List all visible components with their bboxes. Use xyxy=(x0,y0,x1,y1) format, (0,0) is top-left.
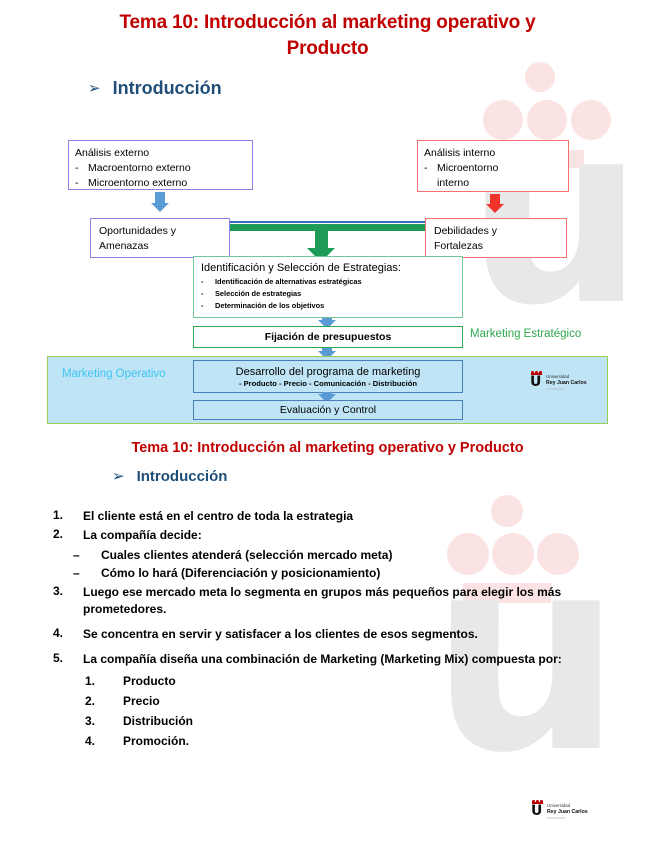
list-item-text: Luego ese mercado meta lo segmenta en gr… xyxy=(83,584,590,618)
box-analisis-interno-item-1: interno xyxy=(437,176,469,191)
arrow-bullet-icon: ➢ xyxy=(112,469,125,484)
list-subitem-level2-number: 1. xyxy=(45,674,123,688)
urjc-logo-diagram: U Universidad Rey Juan Carlos universita… xyxy=(530,371,587,392)
dash-marker: - xyxy=(201,288,205,300)
dash-marker: - xyxy=(201,300,205,312)
list-item-number: 5. xyxy=(45,651,83,668)
urjc-logo-mark: U xyxy=(530,371,543,388)
box-analisis-externo: Análisis externo -Macroentorno externo -… xyxy=(68,140,253,190)
list-item-number: 2. xyxy=(45,527,83,544)
list-subitem-level2-number: 4. xyxy=(45,734,123,748)
box-analisis-externo-item-0: Macroentorno externo xyxy=(88,161,191,176)
box-analisis-interno-title: Análisis interno xyxy=(424,146,562,161)
list-subitem-level2-text: Precio xyxy=(123,694,160,708)
box-identificacion-estrategias: Identificación y Selección de Estrategia… xyxy=(193,256,463,318)
page-title-line2: Producto xyxy=(70,36,585,62)
box-evaluacion-control: Evaluación y Control xyxy=(193,400,463,420)
list-item-text: Se concentra en servir y satisfacer a lo… xyxy=(83,626,478,643)
list-subitem-level2: 4. Promoción. xyxy=(45,734,615,748)
urjc-logo-u-glyph: U xyxy=(530,376,543,388)
box-fijacion-presupuestos: Fijación de presupuestos xyxy=(193,326,463,348)
urjc-logo-line2: Rey Juan Carlos xyxy=(547,809,588,816)
box-analisis-interno: Análisis interno -Microentorno -interno xyxy=(417,140,569,192)
urjc-logo-line2: Rey Juan Carlos xyxy=(546,380,587,387)
list-subitem-level2: 3. Distribución xyxy=(45,714,615,728)
dash-marker: - xyxy=(424,161,430,176)
list-subitem: – Cómo lo hará (Diferenciación y posicio… xyxy=(45,566,615,580)
box-evaluacion-label: Evaluación y Control xyxy=(280,404,376,416)
urjc-logo-line3: universitas xyxy=(546,387,587,392)
urjc-logo-line3: universitas xyxy=(547,816,588,821)
list-subitem-level2-number: 2. xyxy=(45,694,123,708)
connector-arrow-stem xyxy=(315,228,328,250)
list-subitem-text: Cómo lo hará (Diferenciación y posiciona… xyxy=(101,566,380,580)
slide-page: u u Tema 10: Introducción al marketing o… xyxy=(0,0,655,848)
box-oportunidades-line1: Oportunidades y xyxy=(99,224,221,239)
list-item: 2. La compañía decide: xyxy=(45,527,615,544)
page-title-line1: Tema 10: Introducción al marketing opera… xyxy=(70,10,585,36)
label-marketing-operativo: Marketing Operativo xyxy=(62,368,166,380)
list-subitem-level2: 1. Producto xyxy=(45,674,615,688)
page-title-second: Tema 10: Introducción al marketing opera… xyxy=(70,440,585,456)
box-identificacion-item-0: Identificación de alternativas estratégi… xyxy=(215,276,362,288)
list-subitem-level2-text: Producto xyxy=(123,674,176,688)
connector-bar xyxy=(228,224,428,231)
box-debilidades-line1: Debilidades y xyxy=(434,224,558,239)
page-title: Tema 10: Introducción al marketing opera… xyxy=(70,10,585,61)
box-oportunidades-line2: Amenazas xyxy=(99,239,221,254)
box-debilidades-fortalezas: Debilidades y Fortalezas xyxy=(425,218,567,258)
connector-bar-accent xyxy=(228,221,428,223)
strategy-diagram: Análisis externo -Macroentorno externo -… xyxy=(0,128,655,433)
list-item-text: El cliente está en el centro de toda la … xyxy=(83,508,353,525)
urjc-logo-text: Universidad Rey Juan Carlos universitas xyxy=(547,800,588,821)
list-subitem-text: Cuales clientes atenderá (selección merc… xyxy=(101,548,392,562)
urjc-logo-footer: U Universidad Rey Juan Carlos universita… xyxy=(531,800,588,821)
list-subitem-level2-number: 3. xyxy=(45,714,123,728)
section-heading-intro: ➢ Introducción xyxy=(88,78,222,99)
arrow-bullet-icon: ➢ xyxy=(88,81,101,96)
box-desarrollo-programa: Desarrollo del programa de marketing - P… xyxy=(193,360,463,393)
urjc-logo-text: Universidad Rey Juan Carlos universitas xyxy=(546,371,587,392)
content-list: 1. El cliente está en el centro de toda … xyxy=(45,508,615,750)
section-heading-2-label: Introducción xyxy=(137,468,228,485)
dash-marker: - xyxy=(75,176,81,191)
urjc-logo-u-glyph: U xyxy=(531,805,544,817)
list-item: 1. El cliente está en el centro de toda … xyxy=(45,508,615,525)
box-desarrollo-title: Desarrollo del programa de marketing xyxy=(236,366,421,378)
list-subitem: – Cuales clientes atenderá (selección me… xyxy=(45,548,615,562)
list-item: 5. La compañía diseña una combinación de… xyxy=(45,651,590,668)
box-analisis-externo-item-1: Microentorno externo xyxy=(88,176,187,191)
box-analisis-interno-item-0: Microentorno xyxy=(437,161,498,176)
list-item: 4. Se concentra en servir y satisfacer a… xyxy=(45,626,615,643)
box-identificacion-title: Identificación y Selección de Estrategia… xyxy=(201,262,455,274)
box-analisis-externo-title: Análisis externo xyxy=(75,146,246,161)
dash-marker: - xyxy=(201,276,205,288)
box-identificacion-item-1: Selección de estrategias xyxy=(215,288,301,300)
section-heading-label: Introducción xyxy=(113,78,222,99)
crown-icon xyxy=(531,371,542,375)
box-identificacion-item-2: Determinación de los objetivos xyxy=(215,300,324,312)
list-subitem-marker: – xyxy=(45,566,101,580)
box-fijacion-label: Fijación de presupuestos xyxy=(265,331,392,343)
list-item-number: 1. xyxy=(45,508,83,525)
list-item: 3. Luego ese mercado meta lo segmenta en… xyxy=(45,584,590,618)
list-subitem-level2: 2. Precio xyxy=(45,694,615,708)
box-oportunidades-amenazas: Oportunidades y Amenazas xyxy=(90,218,230,258)
list-subitem-marker: – xyxy=(45,548,101,562)
list-subitem-level2-text: Promoción. xyxy=(123,734,189,748)
crown-icon xyxy=(532,800,543,804)
label-marketing-estrategico: Marketing Estratégico xyxy=(470,328,581,340)
list-item-number: 4. xyxy=(45,626,83,643)
dash-marker: - xyxy=(75,161,81,176)
list-item-text: La compañía decide: xyxy=(83,527,202,544)
urjc-logo-mark: U xyxy=(531,800,544,817)
list-item-number: 3. xyxy=(45,584,83,618)
list-item-text: La compañía diseña una combinación de Ma… xyxy=(83,651,562,668)
section-heading-intro-2: ➢ Introducción xyxy=(112,468,227,485)
list-subitem-level2-text: Distribución xyxy=(123,714,193,728)
box-debilidades-line2: Fortalezas xyxy=(434,239,558,254)
box-desarrollo-subtitle: - Producto - Precio - Comunicación - Dis… xyxy=(239,379,417,388)
